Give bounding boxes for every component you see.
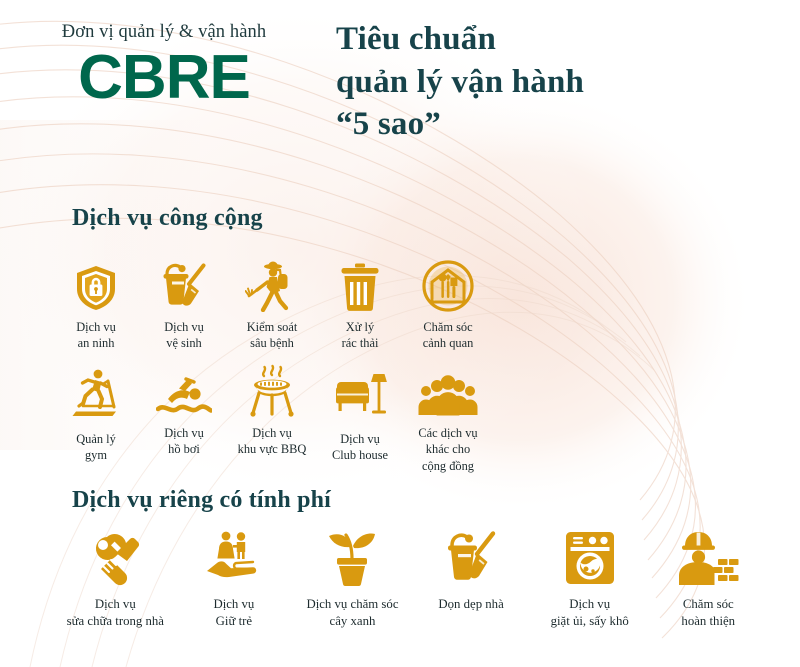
service-label: Chăm sóc cảnh quan [423,319,474,352]
page-title-line-1: Tiêu chuẩn [336,18,786,61]
people-group-icon [418,364,478,418]
section-title-paid-services: Dịch vụ riêng có tính phí [72,487,331,514]
bucket-broom-icon [442,527,500,587]
service-item-plant-care[interactable]: Dịch vụ chăm sóc cây xanh [293,527,412,630]
service-label: Dịch vụ giặt ủi, sấy khô [551,596,629,630]
builder-bricks-icon [677,527,739,587]
section-title-public-services: Dịch vụ công cộng [72,205,263,232]
service-item-pool[interactable]: Dịch vụ hồ bơi [140,364,228,474]
page-title: Tiêu chuẩn quản lý vận hành “5 sao” [336,18,786,146]
service-label: Dịch vụ khu vực BBQ [238,425,307,458]
service-label: Dọn dẹp nhà [438,596,503,613]
service-label: Kiểm soát sâu bệnh [247,319,298,352]
infographic-page: Đơn vị quản lý & vận hành CBRE Tiêu chuẩ… [0,0,800,667]
service-item-finishing[interactable]: Chăm sóc hoàn thiện [649,527,768,630]
service-label: Dịch vụ Giữ trẻ [213,596,254,630]
pest-sprayer-icon [245,258,299,312]
brand-block: Đơn vị quản lý & vận hành CBRE [18,22,310,109]
service-item-home-repair[interactable]: Dịch vụ sửa chữa trong nhà [56,527,175,630]
bucket-broom-icon [158,258,210,312]
service-item-landscaping[interactable]: Chăm sóc cảnh quan [404,258,492,352]
service-item-waste[interactable]: Xử lý rác thải [316,258,404,352]
service-label: Dịch vụ Club house [332,431,388,464]
service-label: Dịch vụ an ninh [76,319,116,352]
page-title-line-2: quản lý vận hành [336,61,786,104]
washing-machine-icon [562,527,618,587]
bbq-grill-icon [246,364,298,418]
service-label: Xử lý rác thải [342,319,379,352]
service-label: Các dịch vụ khác cho cộng đồng [418,425,477,474]
header: Đơn vị quản lý & vận hành CBRE Tiêu chuẩ… [0,0,800,190]
service-item-security[interactable]: Dịch vụ an ninh [52,258,140,352]
icon-row-private-1: Dịch vụ sửa chữa trong nhà Dịch vụ Giữ t… [56,527,768,630]
page-title-line-3: “5 sao” [336,103,786,146]
potted-plant-icon [324,527,380,587]
service-label: Quản lý gym [76,431,116,464]
service-item-gym[interactable]: Quản lý gym [52,364,140,474]
service-label: Dịch vụ hồ bơi [164,425,204,458]
trash-bin-icon [339,258,381,312]
icon-row-public-2: Quản lý gym Dịch vụ hồ bơi [52,364,492,474]
treadmill-runner-icon [70,364,122,418]
service-label: Chăm sóc hoàn thiện [681,596,735,630]
childcare-hand-icon [203,527,265,587]
service-item-bbq[interactable]: Dịch vụ khu vực BBQ [228,364,316,474]
service-item-childcare[interactable]: Dịch vụ Giữ trẻ [175,527,294,630]
service-item-pest-control[interactable]: Kiểm soát sâu bệnh [228,258,316,352]
service-label: Dịch vụ chăm sóc cây xanh [306,596,398,630]
service-item-laundry[interactable]: Dịch vụ giặt ủi, sấy khô [530,527,649,630]
service-label: Dịch vụ vệ sinh [164,319,204,352]
shield-lock-icon [74,258,118,312]
wrench-hand-icon [83,527,147,587]
cbre-logo: CBRE [18,47,310,109]
service-item-clubhouse[interactable]: Dịch vụ Club house [316,364,404,474]
garden-tools-icon [422,258,474,312]
service-label: Dịch vụ sửa chữa trong nhà [67,596,164,630]
brand-tagline: Đơn vị quản lý & vận hành [18,22,310,43]
service-item-cleaning[interactable]: Dịch vụ vệ sinh [140,258,228,352]
swimmer-icon [156,364,212,418]
service-item-community[interactable]: Các dịch vụ khác cho cộng đồng [404,364,492,474]
service-item-house-cleaning[interactable]: Dọn dẹp nhà [412,527,531,630]
armchair-lamp-icon [332,364,388,418]
icon-row-public-1: Dịch vụ an ninh Dịch vụ vệ sinh [52,258,492,352]
